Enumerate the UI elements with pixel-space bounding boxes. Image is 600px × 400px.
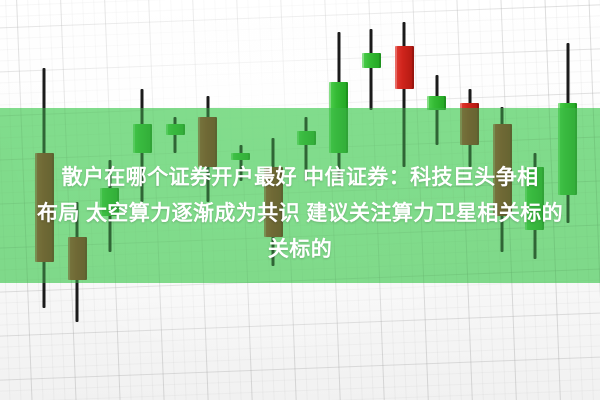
headline-line-1: 散户在哪个证券开户最好 中信证券：科技巨头争相 [0, 160, 600, 196]
stock-chart-banner: 散户在哪个证券开户最好 中信证券：科技巨头争相 布局 太空算力逐渐成为共识 建议… [0, 0, 600, 400]
candlestick [362, 29, 381, 110]
candle-wick [370, 29, 373, 110]
candle-body [362, 53, 381, 67]
headline-line-3: 关标的 [0, 232, 600, 268]
candle-body [395, 46, 414, 88]
headline-line-2: 布局 太空算力逐渐成为共识 建议关注算力卫星相关标的 [0, 196, 600, 232]
